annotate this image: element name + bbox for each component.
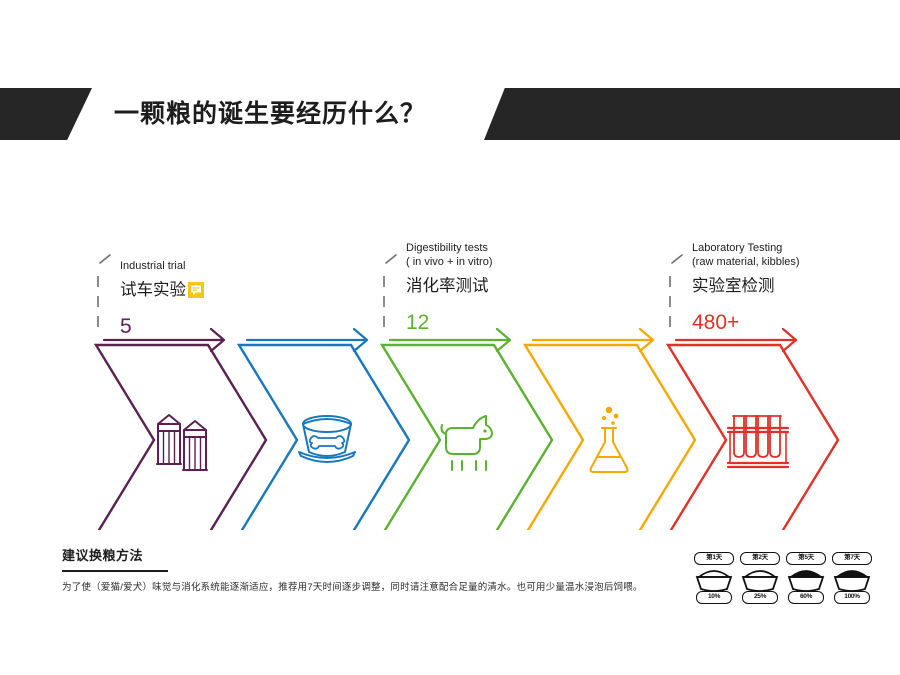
- step-value: 12: [406, 311, 429, 334]
- bowl-icon: [694, 564, 734, 594]
- leader-tick: [672, 255, 682, 263]
- footer-underline: [62, 570, 168, 572]
- step-label-en: (raw material, kibbles): [692, 256, 800, 268]
- bowl-icon: [832, 564, 872, 594]
- test-tube-rack-icon: [728, 416, 788, 467]
- process-step-3[interactable]: Digestibility tests( in vivo + in vitro)…: [382, 242, 552, 530]
- header-band: 一颗粮的诞生要经历什么？: [0, 88, 900, 140]
- flask-icon: [590, 407, 627, 472]
- page-title: 一颗粮的诞生要经历什么？: [114, 88, 426, 140]
- step-label-cn: 消化率测试: [406, 276, 489, 295]
- transition-bowl-1: 第1天10%: [694, 552, 734, 604]
- step-label-cn: 试车实验: [120, 280, 187, 299]
- transition-bowl-2: 第2天25%: [740, 552, 780, 604]
- bowl-fill: [694, 565, 734, 567]
- footer-body: 为了使（爱猫/爱犬）味觉与消化系统能逐渐适应，推荐用7天时间逐步调整，同时请注意…: [62, 581, 682, 594]
- step-label-en: Industrial trial: [120, 260, 185, 272]
- bowl-percent-label: 25%: [742, 591, 778, 604]
- bowl-percent-label: 10%: [696, 591, 732, 604]
- leader-tick: [386, 255, 396, 263]
- bowl-fill: [740, 565, 780, 570]
- process-step-4[interactable]: Urinary pH tests(in vivo)尿液pH值检测2: [415, 329, 695, 530]
- bowl-icon: [740, 564, 780, 594]
- dog-icon: [442, 416, 493, 470]
- header-right-block: [484, 88, 900, 140]
- leader-tick: [100, 255, 110, 263]
- badge-line: [193, 287, 200, 288]
- infographic-canvas: 一颗粮的诞生要经历什么？ Industrial trial试车实验5Palata…: [0, 0, 900, 675]
- feeding-transition-chart: 第1天10%第2天25%第5天60%第7天100%: [694, 552, 874, 604]
- bowl-percent-label: 100%: [834, 591, 870, 604]
- bowl-icon: [786, 564, 826, 594]
- step-value: 5: [120, 315, 132, 338]
- header-left-block: [0, 88, 92, 140]
- step-label-en: Digestibility tests: [406, 242, 488, 254]
- dog-bowl-icon: [299, 416, 355, 462]
- step-label-cn: 实验室检测: [692, 276, 775, 295]
- step-label-en: Laboratory Testing: [692, 242, 782, 254]
- step-arrow-icon: [533, 329, 653, 351]
- bowl-percent-label: 60%: [788, 591, 824, 604]
- footer-note: 建议换粮方法 为了使（爱猫/爱犬）味觉与消化系统能逐渐适应，推荐用7天时间逐步调…: [62, 545, 682, 594]
- process-flow-diagram: Industrial trial试车实验5Palatability tests适…: [0, 190, 900, 530]
- process-step-5[interactable]: Laboratory Testing(raw material, kibbles…: [668, 242, 838, 530]
- grain-silo-icon: [157, 415, 207, 470]
- transition-bowl-3: 第5天60%: [786, 552, 826, 604]
- footer-heading: 建议换粮方法: [62, 545, 143, 569]
- transition-bowl-4: 第7天100%: [832, 552, 872, 604]
- step-value: 480+: [692, 311, 739, 334]
- step-arrow-icon: [247, 329, 367, 351]
- badge-line: [193, 290, 198, 291]
- process-step-1[interactable]: Industrial trial试车实验5: [96, 255, 266, 530]
- step-label-en: ( in vivo + in vitro): [406, 256, 493, 268]
